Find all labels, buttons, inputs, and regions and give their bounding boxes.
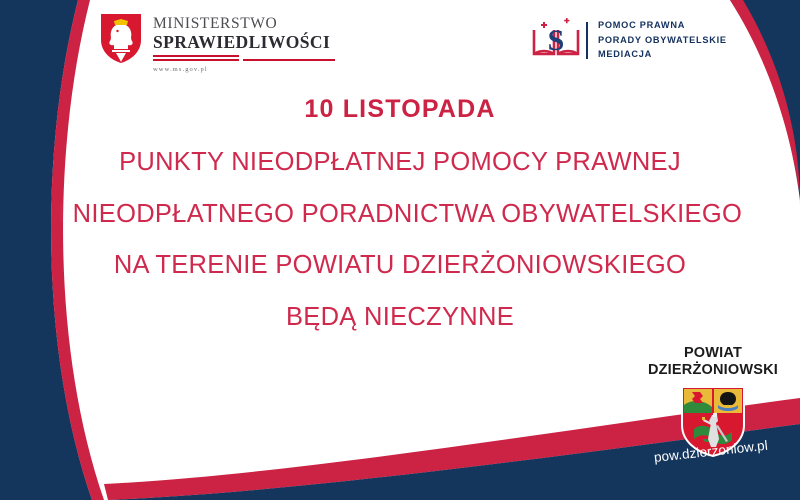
poster-canvas: MINISTERSTWO SPRAWIEDLIWOŚCI www.ms.gov.… xyxy=(0,0,800,500)
legal-aid-line3: MEDIACJA xyxy=(598,47,727,62)
announcement-text-block: 10 LISTOPADA PUNKTY NIEODPŁATNEJ POMOCY … xyxy=(0,95,800,330)
announcement-line-4: BĘDĄ NIECZYNNE xyxy=(0,305,800,331)
legal-aid-logo-text: POMOC PRAWNA PORADY OBYWATELSKIE MEDIACJ… xyxy=(598,18,727,63)
announcement-line-1: PUNKTY NIEODPŁATNEJ POMOCY PRAWNEJ xyxy=(0,150,800,176)
legal-aid-line2: PORADY OBYWATELSKIE xyxy=(598,33,727,48)
announcement-line-2: I NIEODPŁATNEGO PORADNICTWA OBYWATELSKIE… xyxy=(0,202,800,228)
ministry-logo-text: MINISTERSTWO SPRAWIEDLIWOŚCI www.ms.gov.… xyxy=(153,12,330,73)
county-name-line1: POWIAT xyxy=(628,345,798,362)
county-name: POWIAT DZIERŻONIOWSKI xyxy=(628,345,798,379)
polish-eagle-emblem-icon xyxy=(98,12,144,64)
ministry-of-justice-logo: MINISTERSTWO SPRAWIEDLIWOŚCI www.ms.gov.… xyxy=(98,12,330,73)
county-name-line2: DZIERŻONIOWSKI xyxy=(628,362,798,379)
ministry-rule-lines xyxy=(153,55,289,62)
legal-aid-divider xyxy=(586,22,588,59)
open-book-s-mark-icon: S xyxy=(530,16,582,64)
county-logo: POWIAT DZIERŻONIOWSKI xyxy=(628,345,798,457)
announcement-date: 10 LISTOPADA xyxy=(0,95,800,124)
ministry-line2: SPRAWIEDLIWOŚCI xyxy=(153,33,330,52)
legal-aid-line1: POMOC PRAWNA xyxy=(598,18,727,33)
ministry-url: www.ms.gov.pl xyxy=(153,66,330,73)
legal-aid-program-logo: S POMOC PRAWNA PORADY OBYWATELSKIE MEDIA… xyxy=(530,16,727,64)
announcement-line-3: NA TERENIE POWIATU DZIERŻONIOWSKIEGO xyxy=(0,253,800,279)
svg-text:S: S xyxy=(548,24,565,57)
ministry-line1: MINISTERSTWO xyxy=(153,16,330,33)
logo-row: MINISTERSTWO SPRAWIEDLIWOŚCI www.ms.gov.… xyxy=(0,0,800,90)
